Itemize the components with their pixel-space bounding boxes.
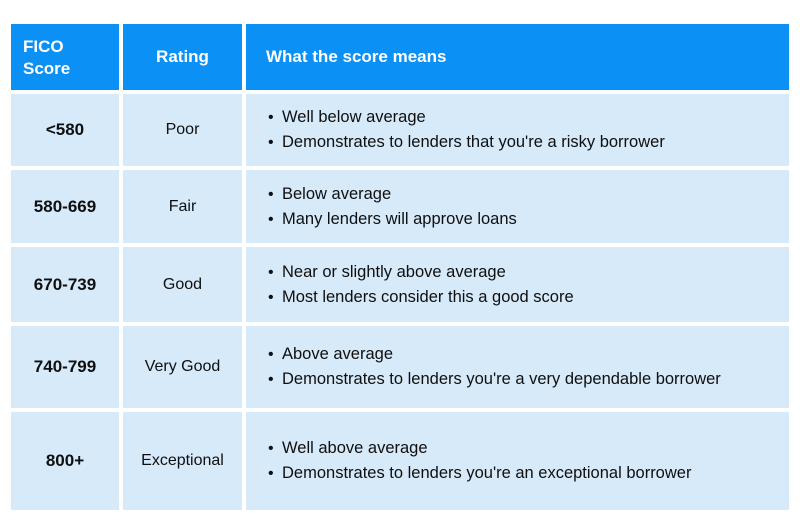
score-value: 800+ (46, 451, 84, 471)
fico-score-table: FICO Score Rating What the score means <… (11, 24, 789, 510)
cell-rating: Exceptional (123, 412, 242, 510)
meaning-bullet-list: Near or slightly above average Most lend… (268, 260, 775, 310)
list-item: Well below average (268, 105, 775, 130)
rating-value: Poor (166, 121, 200, 139)
cell-meaning: Near or slightly above average Most lend… (246, 247, 789, 322)
score-value: 580-669 (34, 197, 96, 217)
score-value: 670-739 (34, 275, 96, 295)
list-item: Demonstrates to lenders that you're a ri… (268, 130, 775, 155)
cell-meaning: Well below average Demonstrates to lende… (246, 94, 789, 166)
header-cell-fico-score: FICO Score (11, 24, 119, 90)
header-fico-line1: FICO (23, 36, 119, 58)
cell-score: 800+ (11, 412, 119, 510)
cell-rating: Poor (123, 94, 242, 166)
list-item: Demonstrates to lenders you're a very de… (268, 367, 775, 392)
header-meaning-label: What the score means (266, 46, 446, 68)
score-value: 740-799 (34, 357, 96, 377)
rating-value: Very Good (145, 358, 221, 376)
list-item: Most lenders consider this a good score (268, 285, 775, 310)
score-value: <580 (46, 120, 84, 140)
table-row: 580-669 Fair Below average Many lenders … (11, 170, 789, 243)
meaning-bullet-list: Well above average Demonstrates to lende… (268, 436, 775, 486)
cell-score: <580 (11, 94, 119, 166)
header-fico-line2: Score (23, 58, 119, 80)
cell-meaning: Below average Many lenders will approve … (246, 170, 789, 243)
meaning-bullet-list: Below average Many lenders will approve … (268, 182, 775, 232)
list-item: Well above average (268, 436, 775, 461)
meaning-bullet-list: Well below average Demonstrates to lende… (268, 105, 775, 155)
table-row: 670-739 Good Near or slightly above aver… (11, 247, 789, 322)
rating-value: Good (163, 276, 202, 294)
table-header-row: FICO Score Rating What the score means (11, 24, 789, 90)
cell-rating: Fair (123, 170, 242, 243)
list-item: Near or slightly above average (268, 260, 775, 285)
list-item: Above average (268, 342, 775, 367)
list-item: Below average (268, 182, 775, 207)
table-row: <580 Poor Well below average Demonstrate… (11, 94, 789, 166)
list-item: Demonstrates to lenders you're an except… (268, 461, 775, 486)
cell-score: 670-739 (11, 247, 119, 322)
rating-value: Exceptional (141, 452, 224, 470)
header-cell-rating: Rating (123, 24, 242, 90)
list-item: Many lenders will approve loans (268, 207, 775, 232)
table-row: 740-799 Very Good Above average Demonstr… (11, 326, 789, 408)
cell-rating: Good (123, 247, 242, 322)
cell-meaning: Well above average Demonstrates to lende… (246, 412, 789, 510)
header-rating-label: Rating (156, 46, 209, 68)
cell-rating: Very Good (123, 326, 242, 408)
rating-value: Fair (169, 198, 197, 216)
header-cell-meaning: What the score means (246, 24, 789, 90)
meaning-bullet-list: Above average Demonstrates to lenders yo… (268, 342, 775, 392)
table-row: 800+ Exceptional Well above average Demo… (11, 412, 789, 510)
cell-score: 580-669 (11, 170, 119, 243)
cell-meaning: Above average Demonstrates to lenders yo… (246, 326, 789, 408)
cell-score: 740-799 (11, 326, 119, 408)
